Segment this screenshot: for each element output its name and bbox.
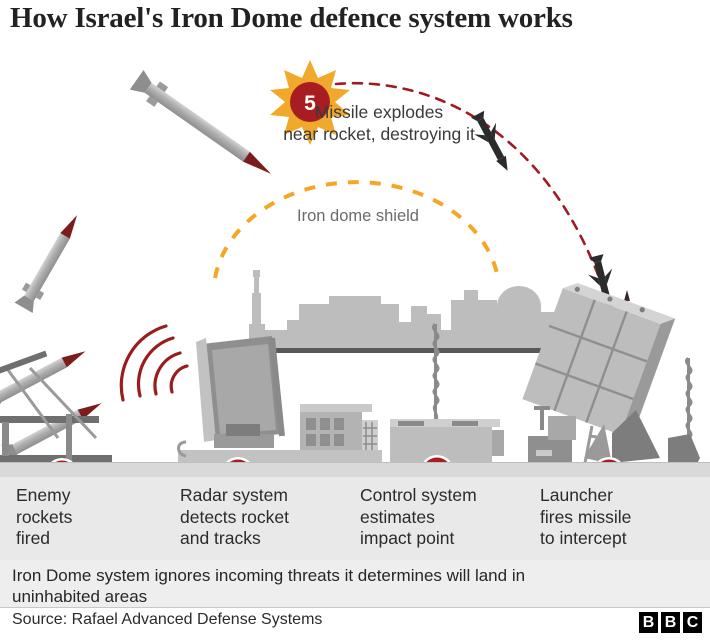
footer-divider — [0, 607, 710, 608]
infographic-root: How Israel's Iron Dome defence system wo… — [0, 0, 710, 641]
step-label-1-line1: Enemy — [16, 485, 164, 507]
explosion-callout-line1: Missile explodes — [264, 101, 494, 123]
footnote-line1: Iron Dome system ignores incoming threat… — [12, 566, 696, 587]
step-label-2: Radar system detects rocket and tracks — [170, 477, 360, 560]
iron-dome-shield-arc — [215, 182, 498, 278]
step-label-2-line1: Radar system — [180, 485, 354, 507]
bbc-logo-letter-3: C — [683, 612, 702, 633]
step-label-4-line3: to intercept — [540, 528, 704, 550]
step-label-3-line1: Control system — [360, 485, 534, 507]
step-label-3: Control system estimates impact point — [360, 477, 540, 560]
footnote: Iron Dome system ignores incoming threat… — [0, 560, 710, 607]
explosion-callout: Missile explodes near rocket, destroying… — [264, 101, 494, 145]
step-label-3-line2: estimates — [360, 507, 534, 529]
enemy-rocket-flying-icon — [15, 210, 87, 313]
radar-system-icon — [178, 336, 382, 478]
step-label-3-line3: impact point — [360, 528, 534, 550]
radar-waves-icon — [121, 326, 187, 400]
step-label-4-line1: Launcher — [540, 485, 704, 507]
explosion-callout-line2: near rocket, destroying it — [264, 123, 494, 145]
rocket-launcher-unit-1 — [0, 342, 120, 478]
incoming-rocket-icon — [130, 70, 278, 184]
shield-label: Iron dome shield — [238, 207, 478, 226]
step-label-4: Launcher fires missile to intercept — [540, 477, 710, 560]
step-label-1: Enemy rockets fired — [0, 477, 170, 560]
step-label-1-line3: fired — [16, 528, 164, 550]
page-title: How Israel's Iron Dome defence system wo… — [10, 2, 702, 35]
bbc-logo-letter-1: B — [639, 612, 658, 633]
footnote-line2: uninhabited areas — [12, 587, 696, 608]
bbc-logo-letter-2: B — [661, 612, 680, 633]
source-credit: Source: Rafael Advanced Defense Systems — [12, 611, 322, 629]
bbc-logo: B B C — [639, 612, 702, 633]
step-label-2-line3: and tracks — [180, 528, 354, 550]
step-label-1-line2: rockets — [16, 507, 164, 529]
step-labels-strip: Enemy rockets fired Radar system detects… — [0, 477, 710, 560]
ground-band — [0, 463, 710, 477]
step-label-2-line2: detects rocket — [180, 507, 354, 529]
step-label-4-line2: fires missile — [540, 507, 704, 529]
missile-launcher-icon — [520, 279, 700, 478]
